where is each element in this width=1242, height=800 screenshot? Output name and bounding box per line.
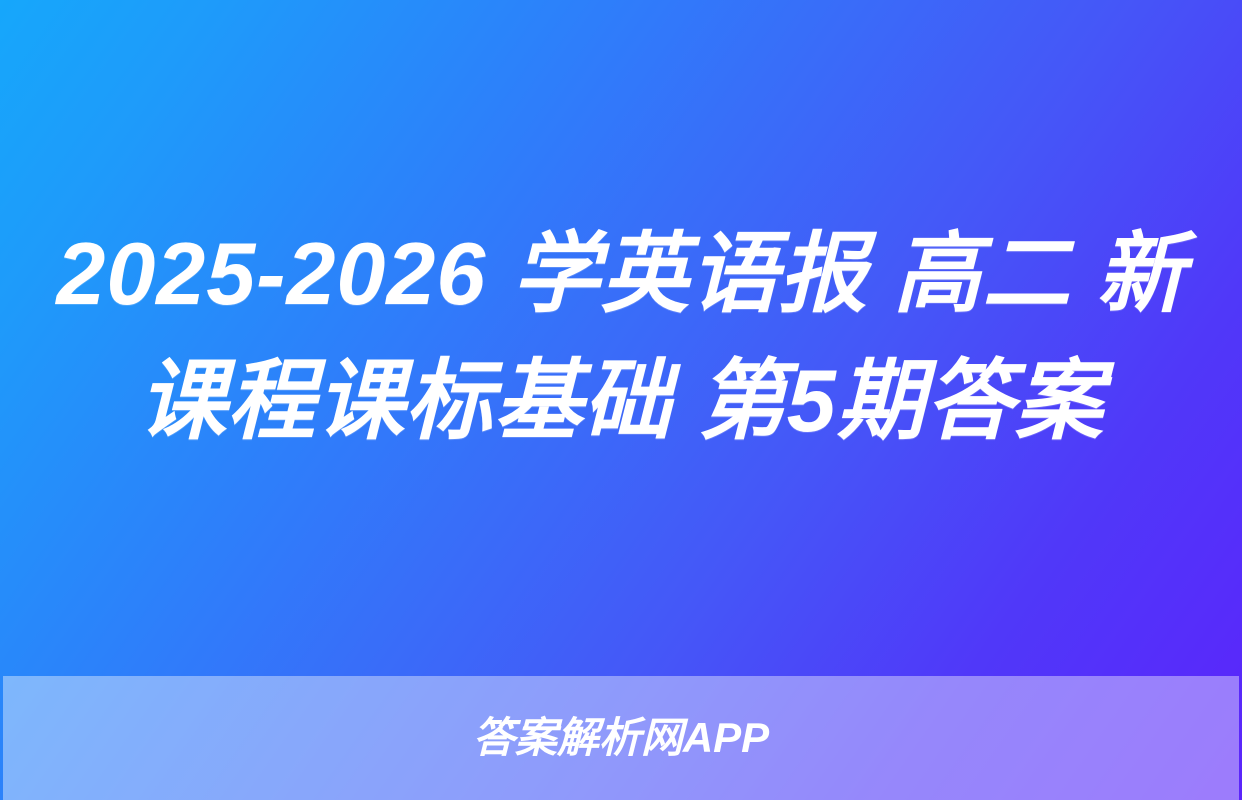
page-title: 2025-2026 学英语报 高二 新课程课标基础 第5期答案 <box>44 211 1198 464</box>
footer-brand-label: 答案解析网APP <box>473 717 769 759</box>
title-area: 2025-2026 学英语报 高二 新课程课标基础 第5期答案 <box>0 0 1242 676</box>
poster-canvas: 2025-2026 学英语报 高二 新课程课标基础 第5期答案 答案解析网APP <box>0 0 1242 800</box>
footer-brand-band: 答案解析网APP <box>3 676 1239 800</box>
